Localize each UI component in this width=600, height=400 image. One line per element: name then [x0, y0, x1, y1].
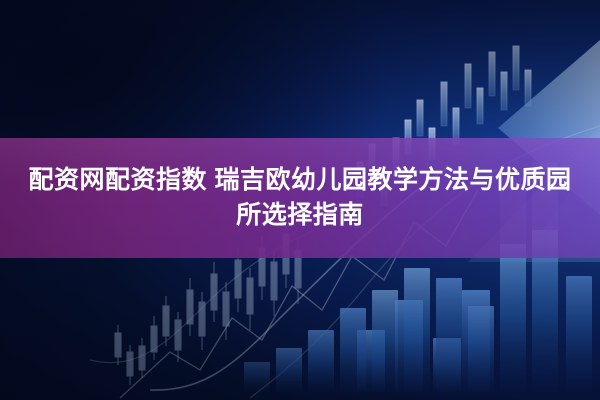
banner-title: 配资网配资指数 瑞吉欧幼儿园教学方法与优质园 所选择指南 [0, 138, 600, 258]
banner-title-line-2: 所选择指南 [236, 198, 364, 233]
stock-banner-image: 配资网配资指数 瑞吉欧幼儿园教学方法与优质园 所选择指南 [0, 0, 600, 400]
banner-title-line-1: 配资网配资指数 瑞吉欧幼儿园教学方法与优质园 [29, 163, 572, 198]
